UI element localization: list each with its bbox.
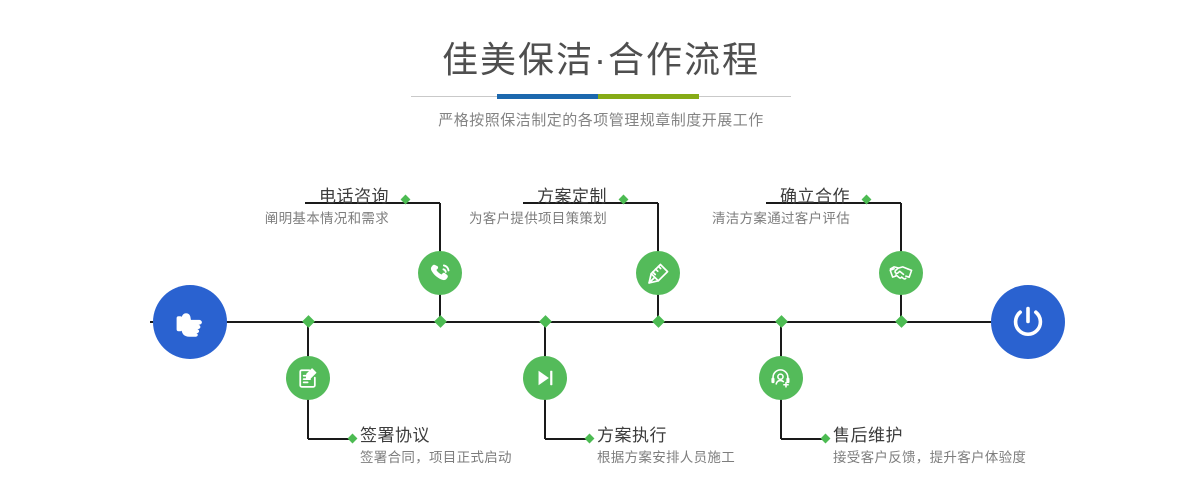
divider-segment-blue	[497, 94, 598, 99]
step-4-icon-node[interactable]	[523, 356, 567, 400]
step-2-icon-node[interactable]	[286, 356, 330, 400]
step-3-title: 方案定制	[469, 186, 607, 208]
step-5-icon-node[interactable]	[879, 251, 923, 295]
step-2-label-diamond	[348, 434, 358, 444]
page-title: 佳美保洁·合作流程	[0, 0, 1202, 82]
timeline-axis	[150, 321, 1052, 323]
phone-call-icon	[428, 261, 453, 286]
step-6-desc: 接受客户反馈，提升客户体验度	[833, 448, 1026, 468]
step-1-label: 电话咨询 阐明基本情况和需求	[265, 186, 389, 229]
step-6-axis-diamond	[775, 315, 788, 328]
pointing-hand-icon	[170, 302, 210, 342]
document-edit-icon	[296, 366, 320, 390]
step-4-elbow	[545, 438, 590, 440]
header: 佳美保洁·合作流程 严格按照保洁制定的各项管理规章制度开展工作	[0, 0, 1202, 131]
step-2-axis-diamond	[302, 315, 315, 328]
step-3-label: 方案定制 为客户提供项目策策划	[469, 186, 607, 229]
step-2-desc: 签署合同，项目正式启动	[360, 448, 512, 468]
step-2-elbow	[308, 438, 353, 440]
power-button-icon	[1007, 301, 1049, 343]
step-3-desc: 为客户提供项目策策划	[469, 209, 607, 229]
step-1-title: 电话咨询	[265, 186, 389, 208]
step-2-title: 签署协议	[360, 425, 512, 447]
step-4-desc: 根据方案安排人员施工	[597, 448, 735, 468]
step-6-label: 售后维护 接受客户反馈，提升客户体验度	[833, 425, 1026, 468]
handshake-icon	[888, 260, 914, 286]
step-5-desc: 清洁方案通过客户评估	[712, 209, 850, 229]
step-4-label-diamond	[585, 434, 595, 444]
step-2-label: 签署协议 签署合同，项目正式启动	[360, 425, 512, 468]
step-4-label: 方案执行 根据方案安排人员施工	[597, 425, 735, 468]
flow-end-node	[991, 285, 1065, 359]
step-5-label: 确立合作 清洁方案通过客户评估	[712, 186, 850, 229]
step-3-icon-node[interactable]	[636, 251, 680, 295]
step-4-title: 方案执行	[597, 425, 735, 447]
step-4-axis-diamond	[539, 315, 552, 328]
step-6-icon-node[interactable]	[759, 356, 803, 400]
step-1-axis-diamond	[434, 315, 447, 328]
process-flow-infographic: 佳美保洁·合作流程 严格按照保洁制定的各项管理规章制度开展工作	[0, 0, 1202, 502]
play-skip-icon	[533, 366, 557, 390]
step-1-icon-node[interactable]	[418, 251, 462, 295]
page-subtitle: 严格按照保洁制定的各项管理规章制度开展工作	[0, 100, 1202, 131]
step-1-desc: 阐明基本情况和需求	[265, 209, 389, 229]
step-6-label-diamond	[821, 434, 831, 444]
pencil-ruler-icon	[646, 261, 671, 286]
customer-service-add-icon	[769, 366, 793, 390]
step-3-axis-diamond	[652, 315, 665, 328]
step-5-title: 确立合作	[712, 186, 850, 208]
divider-segment-green	[598, 94, 699, 99]
step-5-axis-diamond	[895, 315, 908, 328]
title-divider	[411, 94, 791, 100]
flow-start-node	[153, 285, 227, 359]
step-6-elbow	[781, 438, 826, 440]
step-6-title: 售后维护	[833, 425, 1026, 447]
